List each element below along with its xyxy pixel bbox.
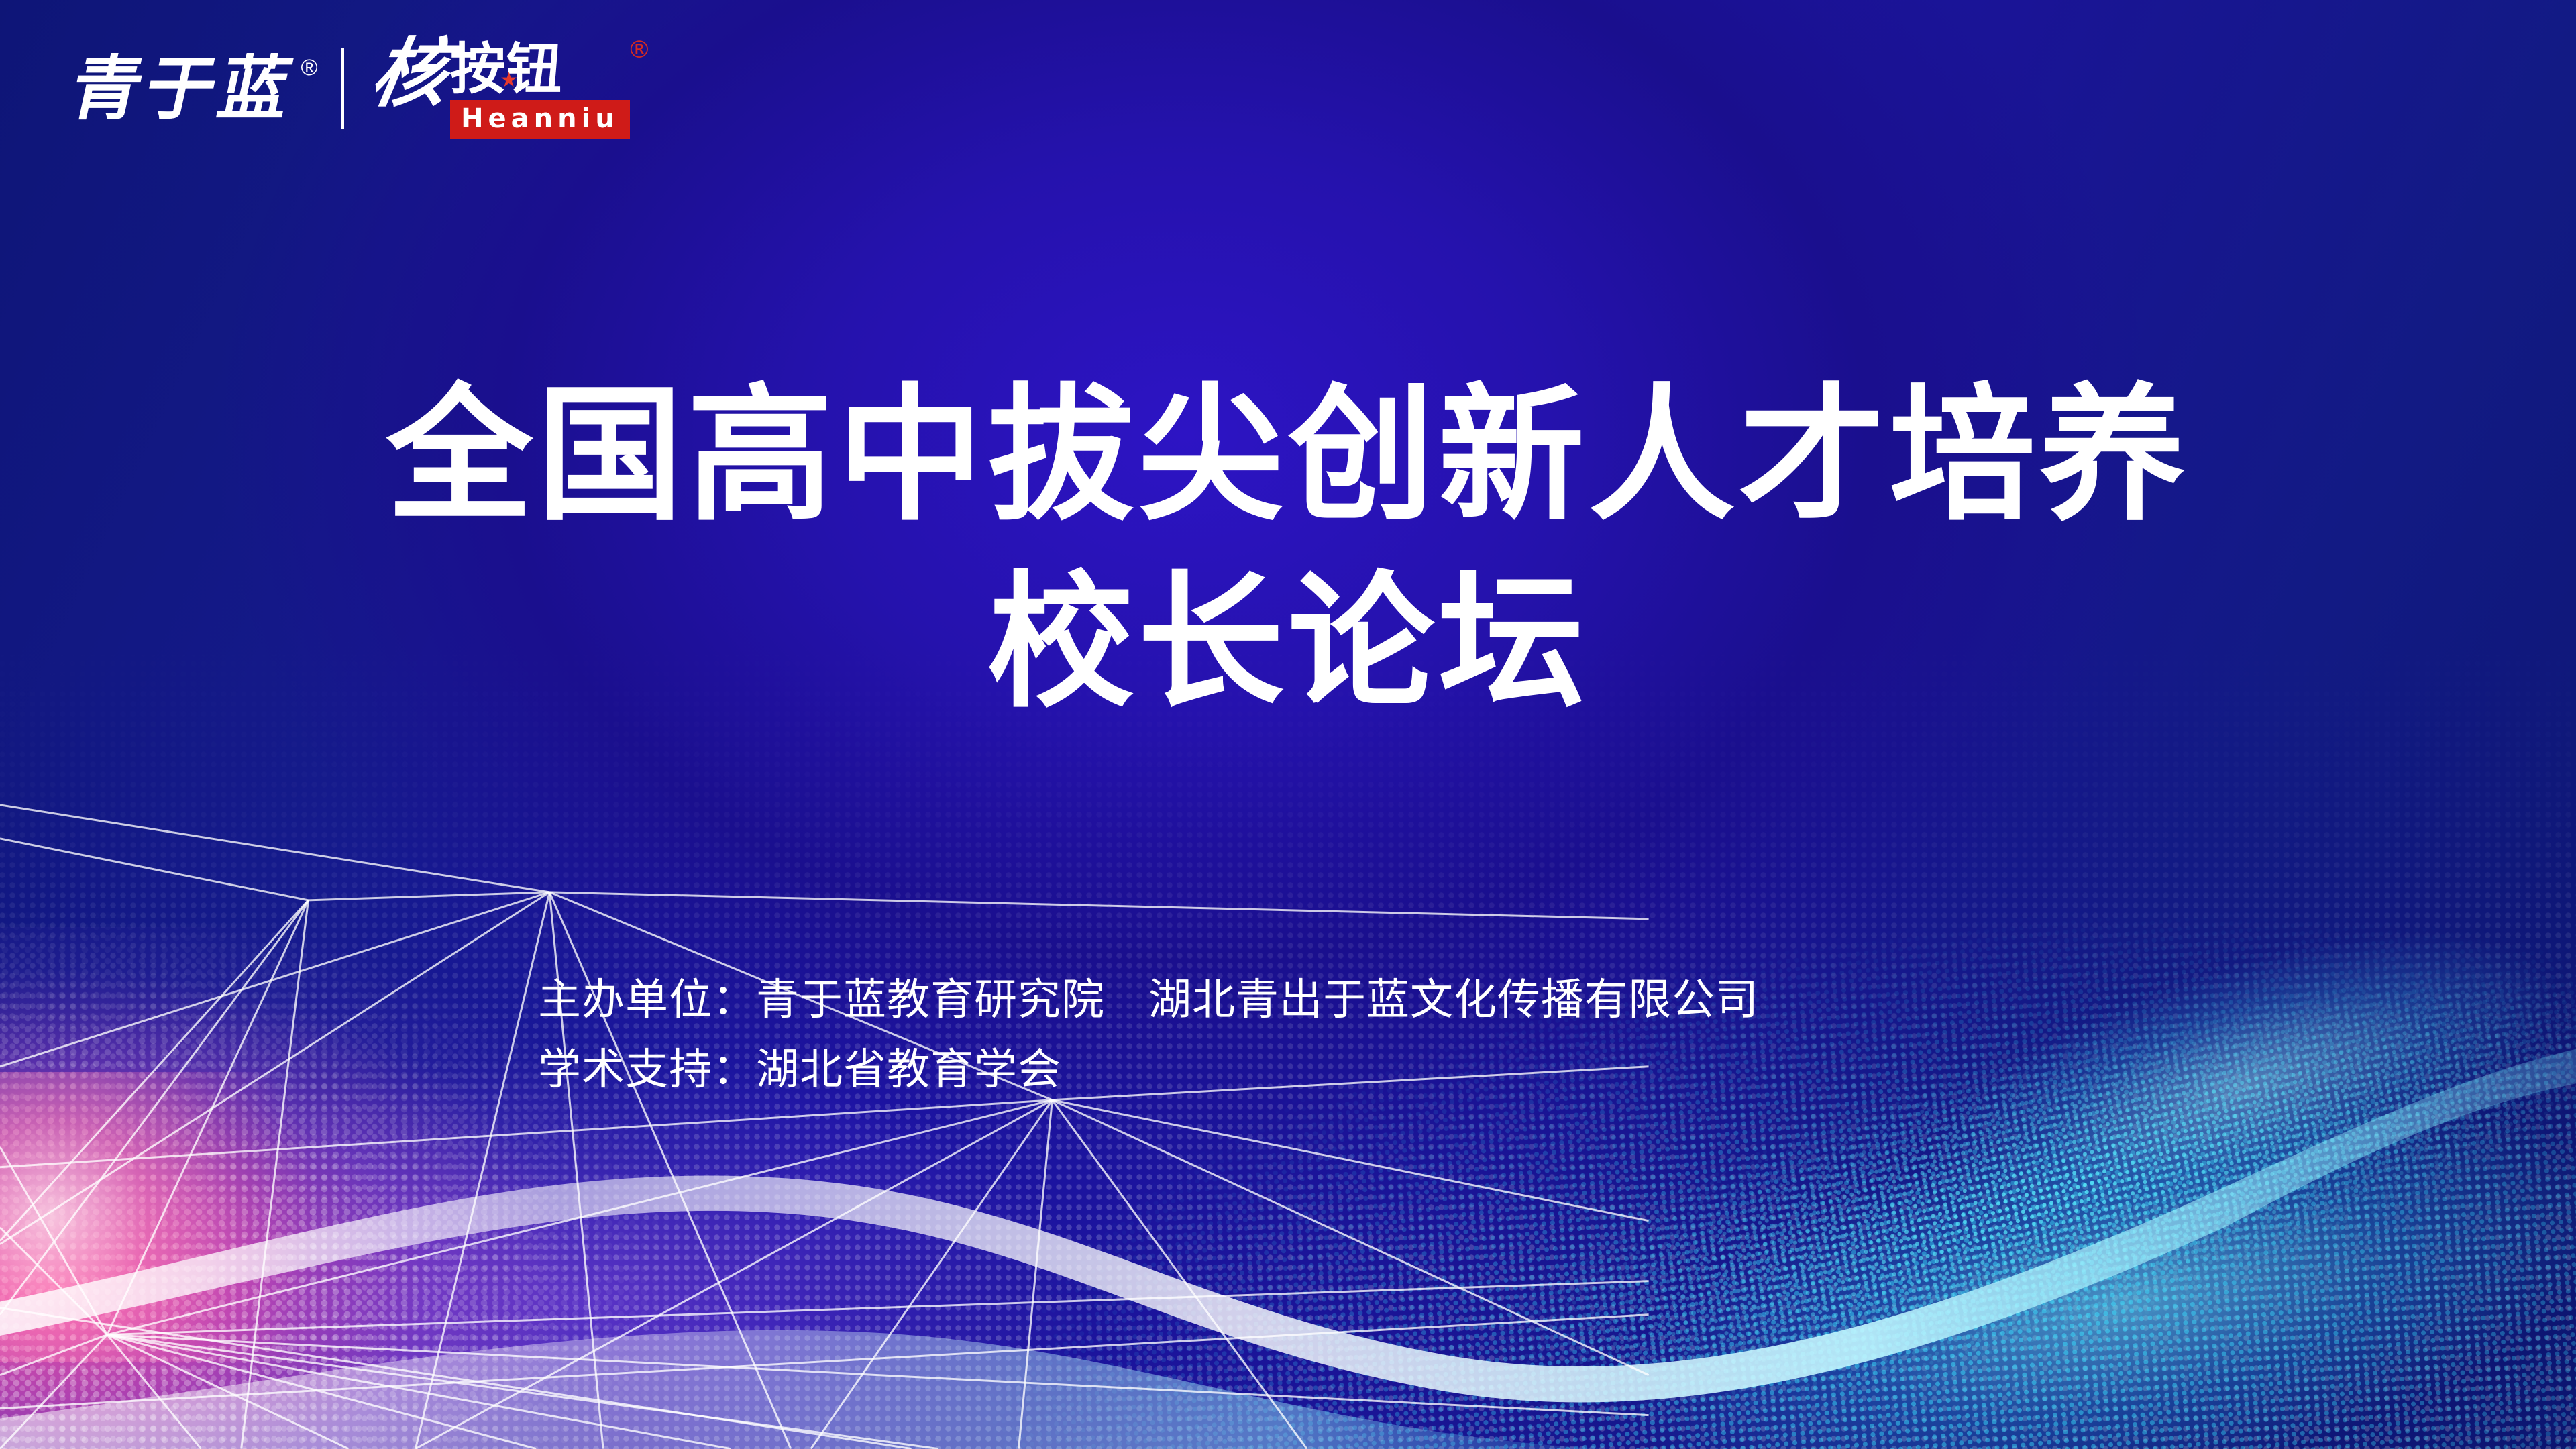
brand-logo-heanniu: 核 按钮 ★ ® Heanniu — [372, 38, 630, 139]
event-title-line-1: 全国高中拔尖创新人才培养 — [0, 362, 2576, 549]
product-name-first-char: 核 — [366, 38, 454, 109]
registered-trademark-icon: ® — [301, 55, 317, 81]
organizer-info: 主办单位：青于蓝教育研究院 湖北青出于蓝文化传播有限公司 学术支持：湖北省教育学… — [538, 966, 1759, 1105]
product-name-rest: 按钮 ★ ® — [450, 42, 630, 97]
event-poster: 青于蓝 ® 核 按钮 ★ ® Heanniu 全国高中拔尖创新人才培养 校长论坛… — [0, 0, 2576, 1449]
brand-logo-qingyulan: 青于蓝 ® — [65, 54, 321, 123]
logo-divider — [341, 48, 344, 129]
event-title: 全国高中拔尖创新人才培养 校长论坛 — [0, 362, 2576, 737]
event-title-line-2: 校长论坛 — [0, 549, 2576, 737]
product-pinyin-banner: Heanniu — [450, 100, 630, 139]
poster-content: 全国高中拔尖创新人才培养 校长论坛 主办单位：青于蓝教育研究院 湖北青出于蓝文化… — [0, 0, 2576, 1449]
brand-logo[interactable]: 青于蓝 ® 核 按钮 ★ ® Heanniu — [72, 35, 630, 142]
academic-support-line: 学术支持：湖北省教育学会 — [538, 1036, 1759, 1106]
registered-trademark-red-icon: ® — [627, 38, 653, 62]
host-organization-line: 主办单位：青于蓝教育研究院 湖北青出于蓝文化传播有限公司 — [538, 966, 1759, 1036]
brand-name-cn: 青于蓝 — [65, 54, 301, 123]
star-icon: ★ — [500, 70, 519, 91]
